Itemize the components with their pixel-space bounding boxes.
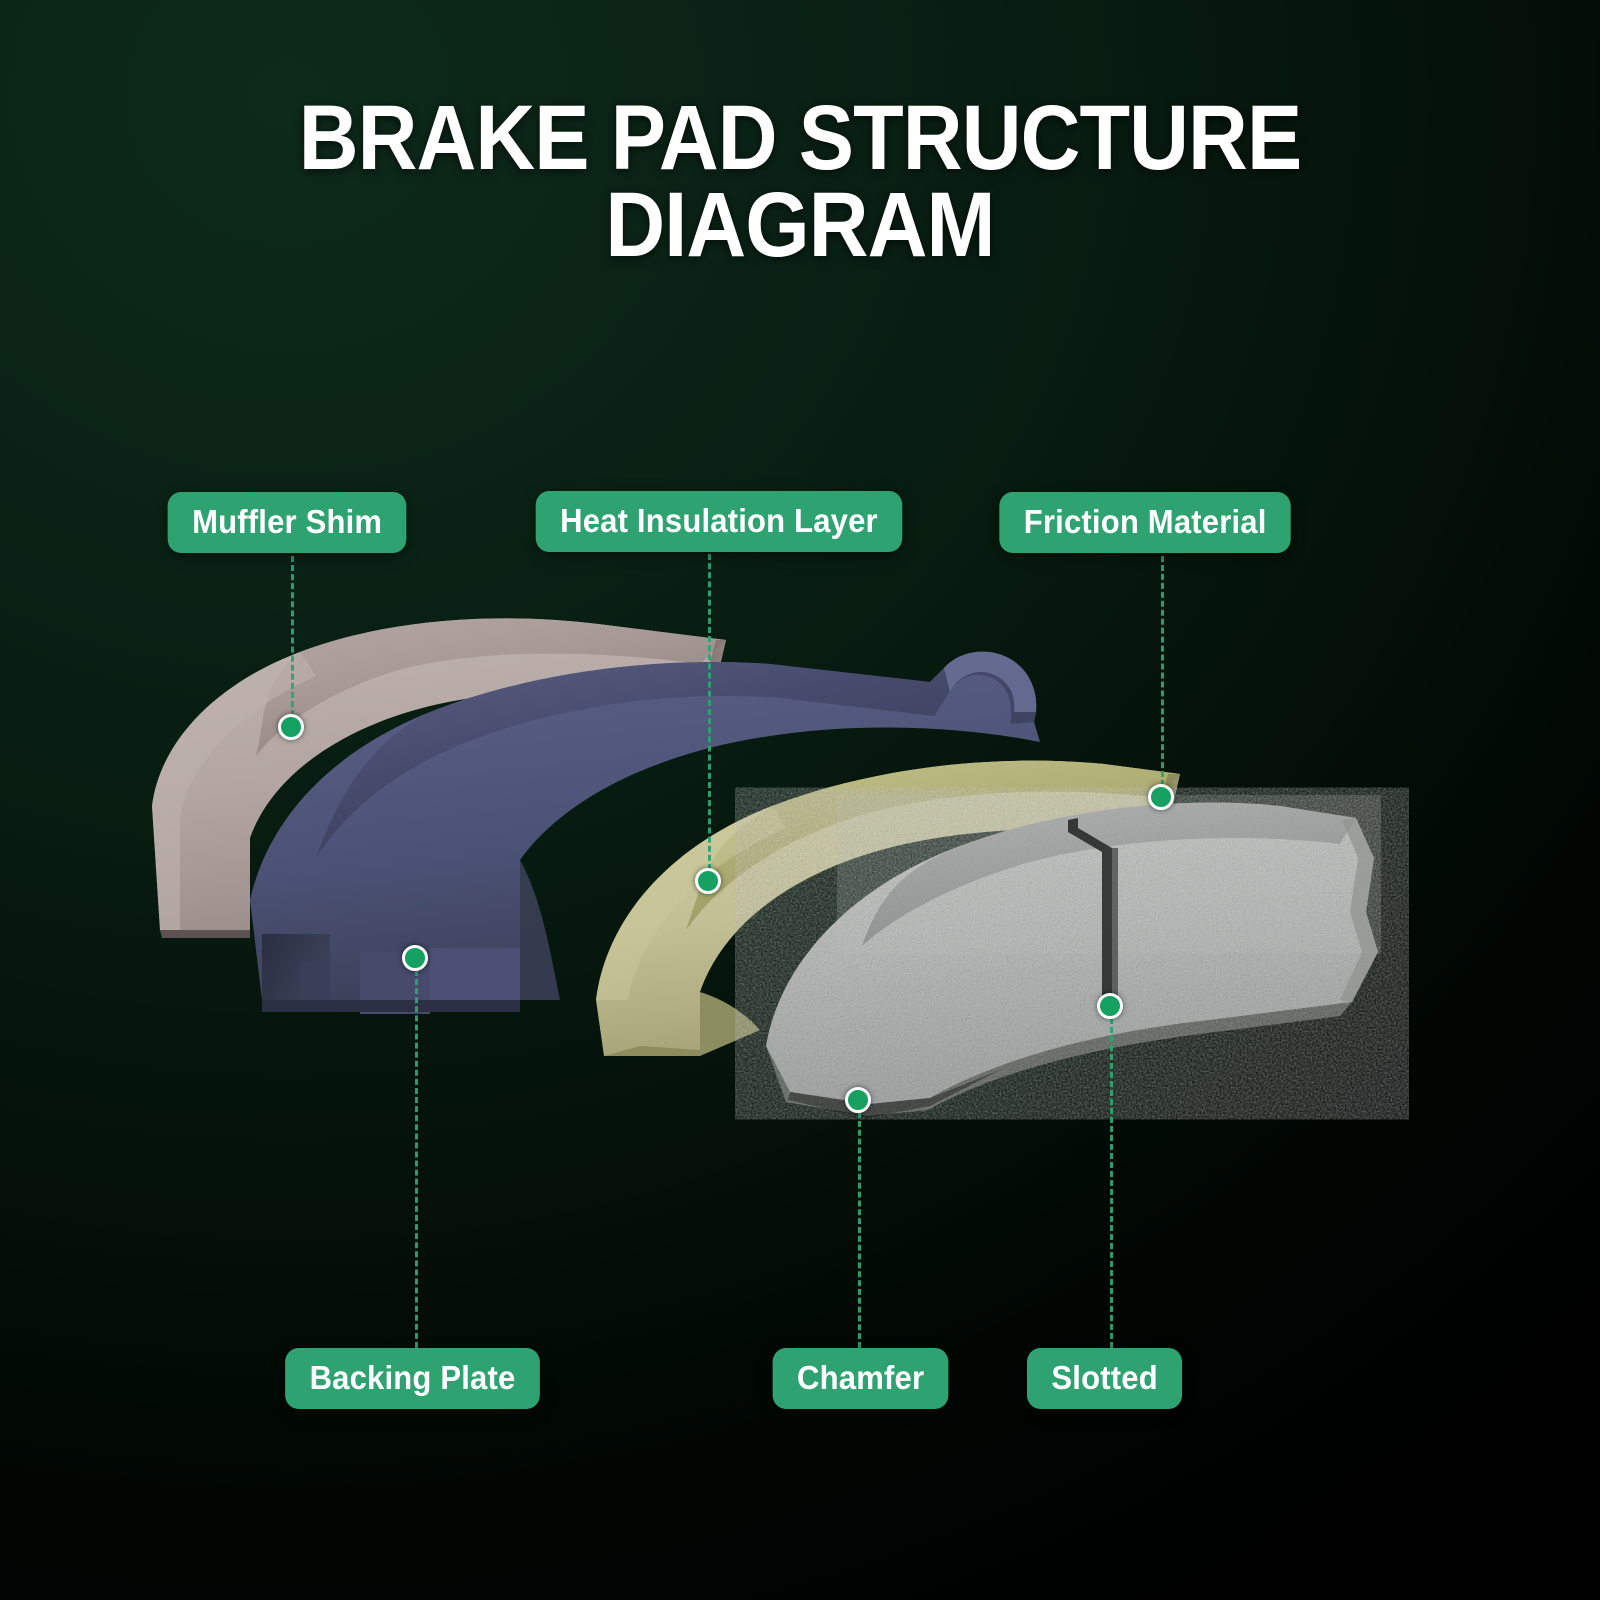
leader-line-muffler-shim [291, 556, 294, 716]
callout-dot-backing-plate[interactable] [402, 945, 428, 971]
leader-line-backing-plate [415, 970, 418, 1348]
callout-dot-muffler-shim[interactable] [278, 714, 304, 740]
callout-badge-heat-insulation-layer[interactable]: Heat Insulation Layer [536, 491, 903, 552]
callout-dot-friction-material[interactable] [1148, 784, 1174, 810]
callout-badge-friction-material[interactable]: Friction Material [999, 492, 1291, 553]
callout-badge-chamfer[interactable]: Chamfer [773, 1348, 949, 1409]
leader-line-slotted [1110, 1018, 1113, 1348]
leader-line-chamfer [858, 1112, 861, 1348]
callout-badge-muffler-shim[interactable]: Muffler Shim [168, 492, 407, 553]
callout-dot-slotted[interactable] [1097, 993, 1123, 1019]
callout-dot-chamfer[interactable] [845, 1087, 871, 1113]
callout-badge-slotted[interactable]: Slotted [1027, 1348, 1182, 1409]
callout-badge-backing-plate[interactable]: Backing Plate [285, 1348, 540, 1409]
leader-line-heat-insulation-layer [708, 554, 711, 870]
leader-line-friction-material [1161, 556, 1164, 786]
callout-dot-heat-insulation-layer[interactable] [695, 868, 721, 894]
diagram-canvas: BRAKE PAD STRUCTURE DIAGRAM [0, 0, 1600, 1600]
